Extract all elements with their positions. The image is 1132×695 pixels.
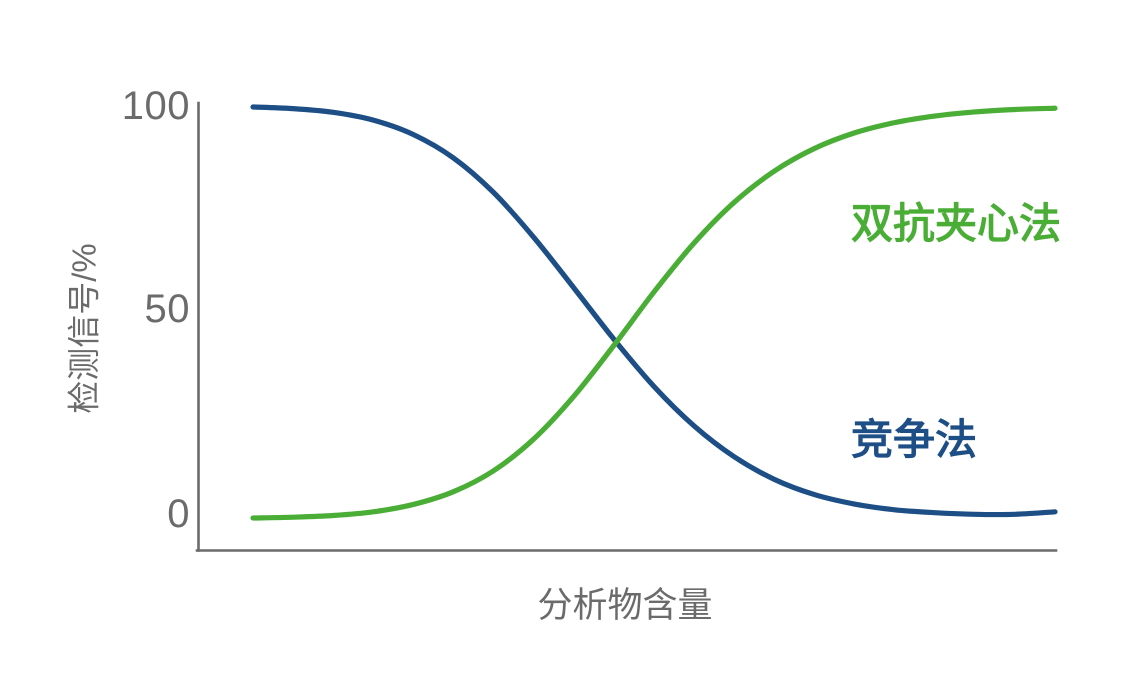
series-label-competitive: 竞争法 — [851, 419, 977, 461]
y-tick-label-50: 50 — [145, 289, 191, 329]
x-axis-title: 分析物含量 — [0, 588, 1132, 623]
chart-figure: 100 50 0 检测信号/% 分析物含量 双抗夹心法 竞争法 — [0, 0, 1132, 695]
y-tick-label-0: 0 — [167, 494, 190, 534]
y-tick-label-100: 100 — [122, 86, 190, 126]
series-label-sandwich: 双抗夹心法 — [851, 203, 1061, 245]
y-axis-title: 检测信号/% — [68, 179, 101, 479]
